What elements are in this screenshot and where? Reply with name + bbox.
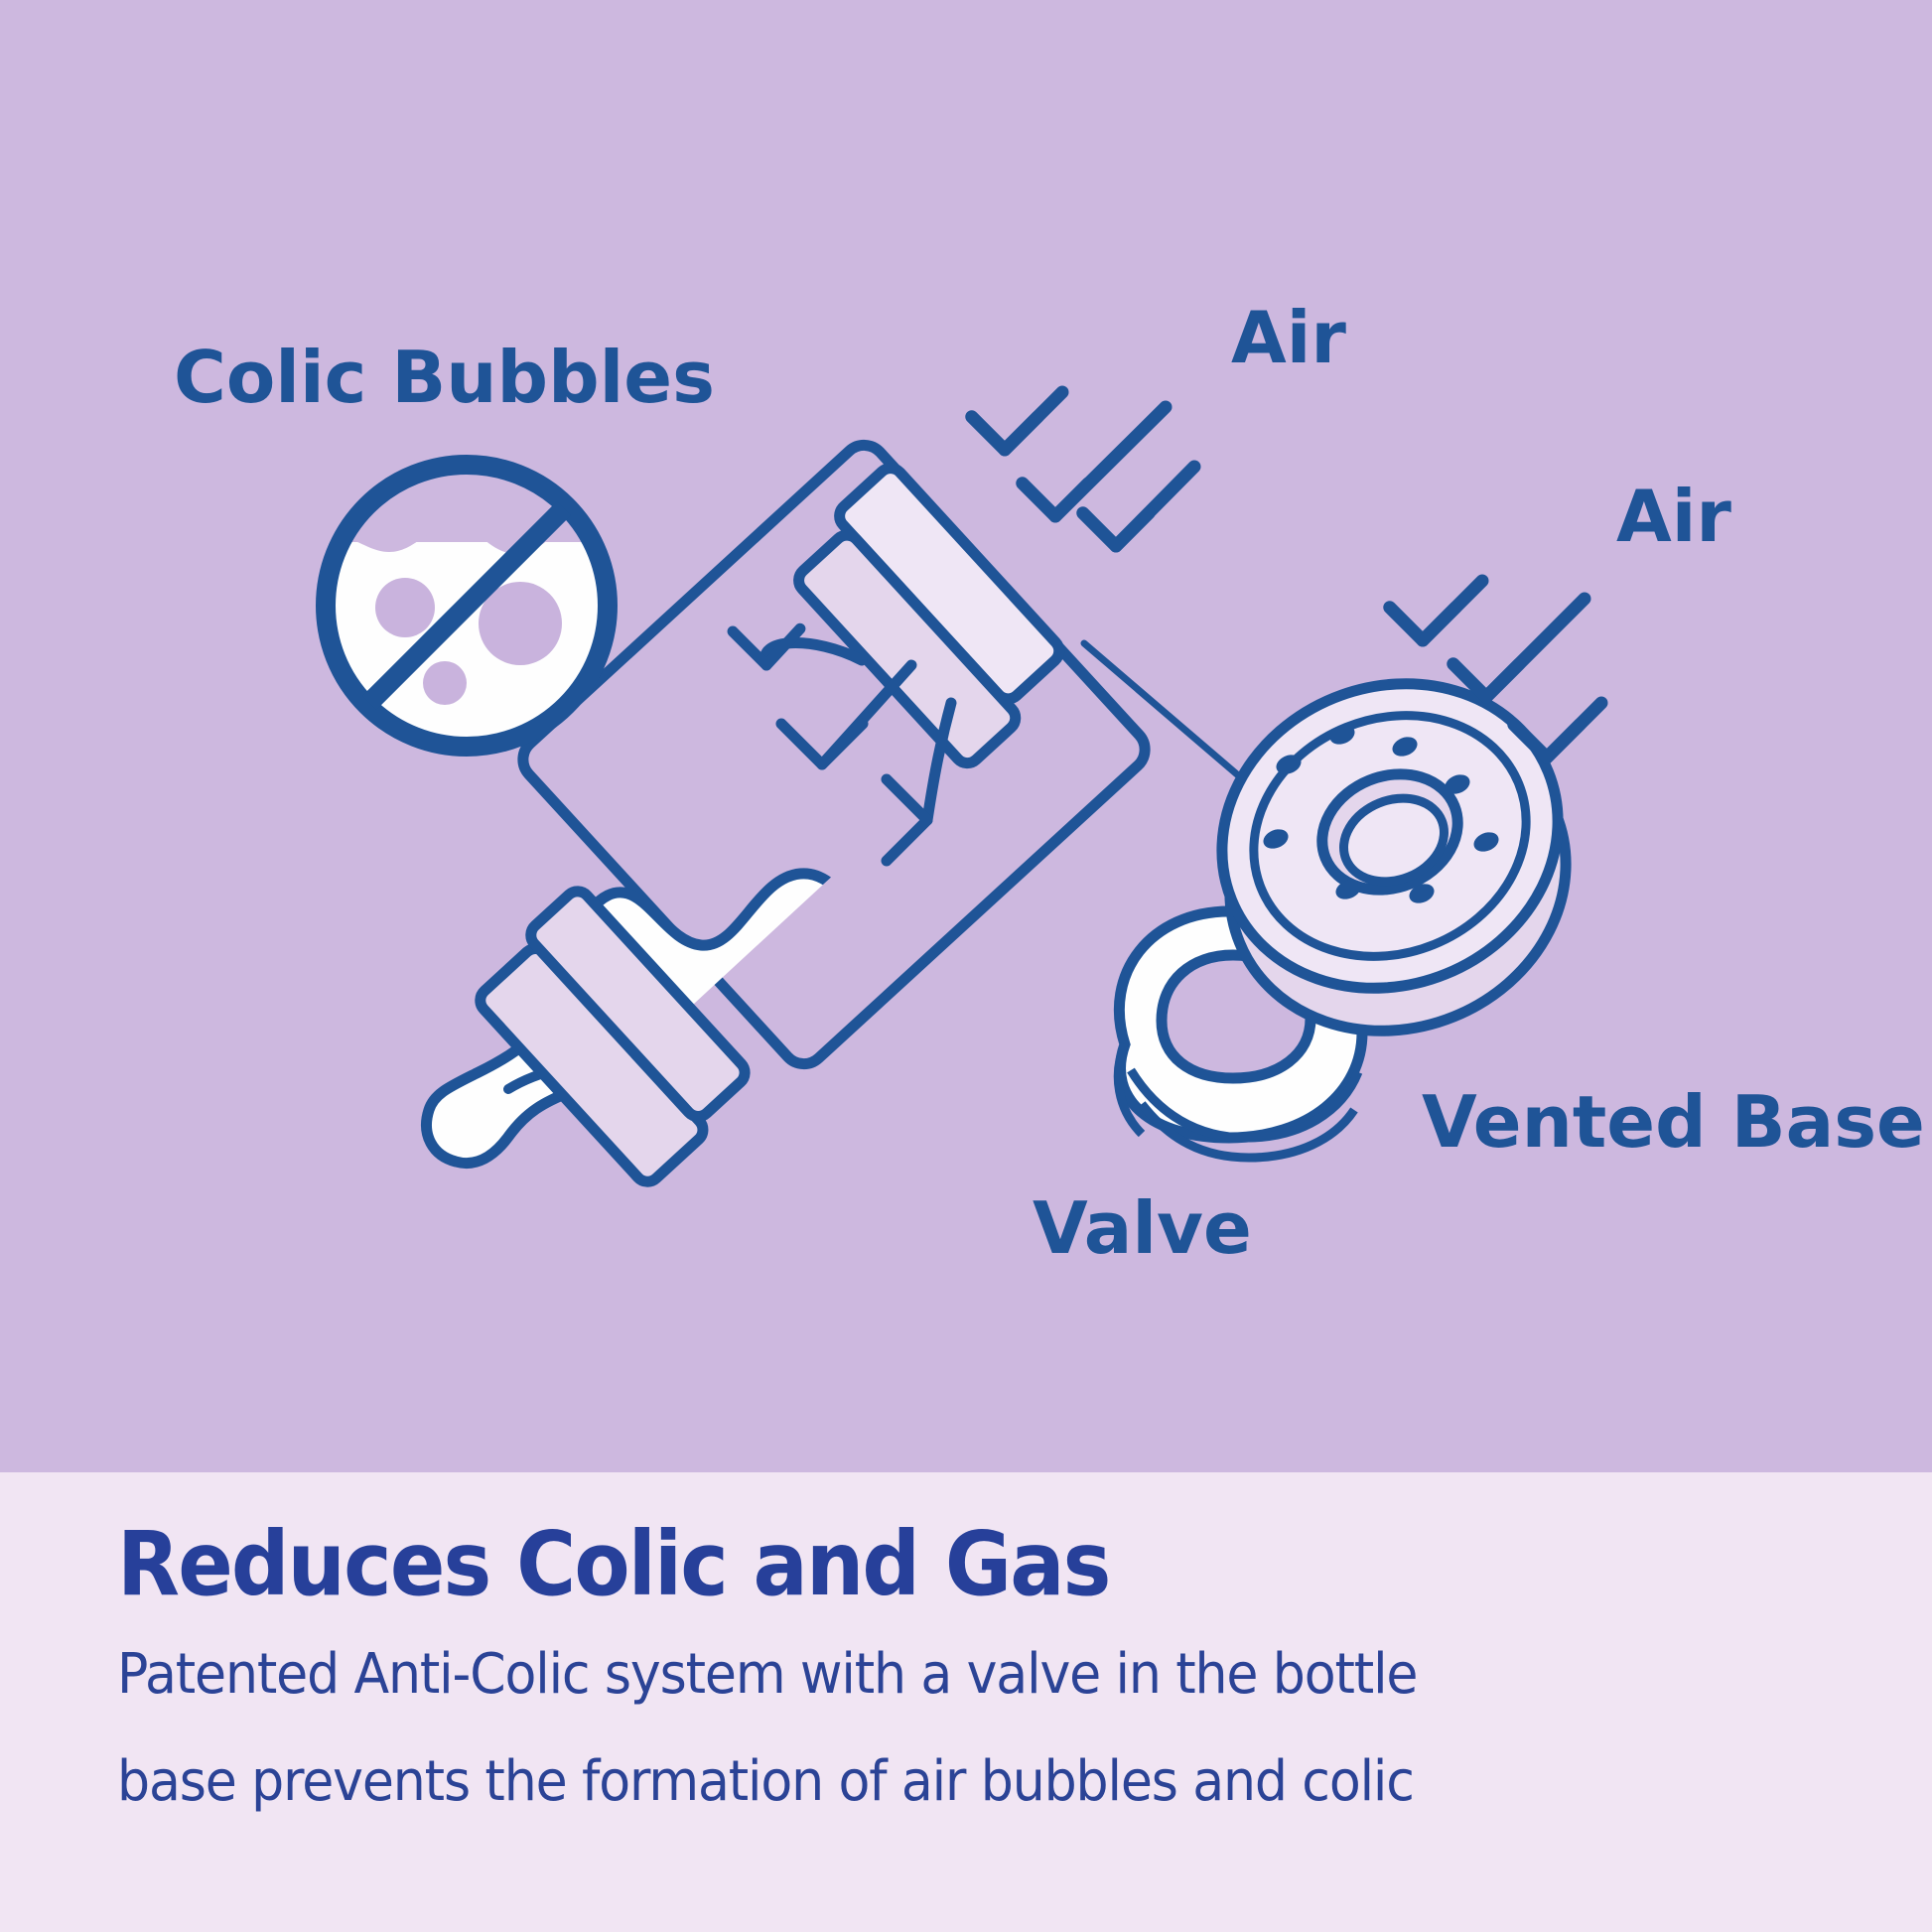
body-text-line-1: Patented Anti-Colic system with a valve … <box>117 1647 1417 1703</box>
label-air-right: Air <box>1616 475 1731 558</box>
body-text-line-2: base prevents the formation of air bubbl… <box>117 1754 1414 1810</box>
caption-panel: Reduces Colic and Gas Patented Anti-Coli… <box>0 1472 1932 1932</box>
illustration-panel: Colic Bubbles Air Air Valve Vented Base <box>0 0 1932 1472</box>
badge-bubble-3 <box>423 661 467 705</box>
air-arrow-right-2 <box>1453 599 1585 697</box>
page-headline: Reduces Colic and Gas <box>117 1520 1110 1608</box>
label-air-top: Air <box>1231 296 1346 379</box>
marketing-infographic: Colic Bubbles Air Air Valve Vented Base … <box>0 0 1932 1932</box>
no-colic-badge <box>326 465 610 747</box>
badge-bubble-1 <box>375 578 435 637</box>
label-colic-bubbles: Colic Bubbles <box>174 336 715 419</box>
air-arrows-top <box>972 384 1194 546</box>
label-vented-base: Vented Base <box>1422 1080 1925 1164</box>
air-arrow-right-1 <box>1390 575 1482 640</box>
bottle-diagram-svg: Colic Bubbles Air Air Valve Vented Base <box>0 0 1932 1472</box>
label-valve: Valve <box>1033 1186 1252 1270</box>
air-arrow-top-1 <box>972 384 1062 450</box>
air-arrow-top-2 <box>1023 407 1166 516</box>
